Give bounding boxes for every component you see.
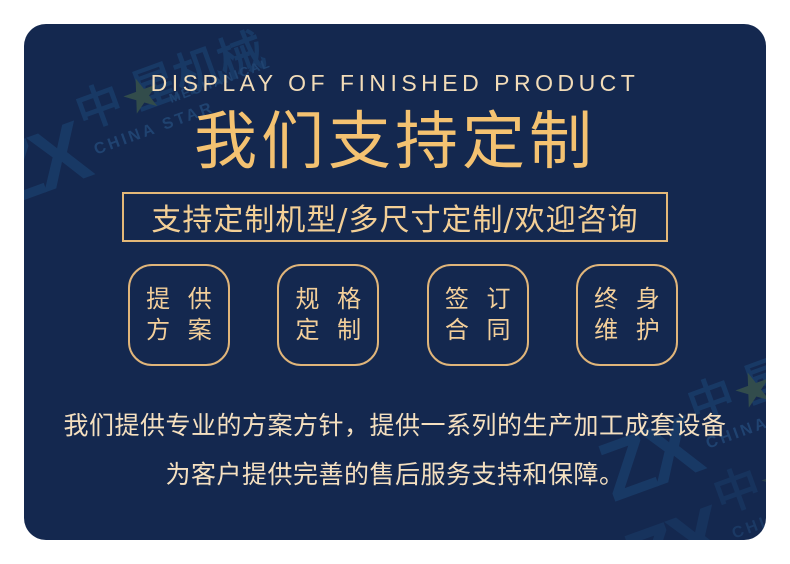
feature-box-1-line2: 方 案 — [141, 318, 217, 343]
page-title: 我们支持定制 — [24, 106, 766, 178]
subtitle-text: 支持定制机型/多尺寸定制/欢迎咨询 — [151, 195, 638, 239]
feature-box-4-line1: 终 身 — [589, 287, 665, 312]
feature-box-3-line1: 签 订 — [440, 287, 516, 312]
feature-box-2[interactable]: 规 格 定 制 — [277, 264, 379, 366]
description-line-1: 我们提供专业的方案方针，提供一系列的生产加工成套设备 — [24, 402, 766, 451]
feature-box-4-line2: 维 护 — [589, 318, 665, 343]
feature-box-1-line1: 提 供 — [141, 287, 217, 312]
subtitle-box: 支持定制机型/多尺寸定制/欢迎咨询 — [122, 192, 668, 242]
feature-box-3[interactable]: 签 订 合 同 — [427, 264, 529, 366]
feature-box-4[interactable]: 终 身 维 护 — [576, 264, 678, 366]
description-line-2: 为客户提供完善的售后服务支持和保障。 — [24, 451, 766, 500]
feature-box-3-line2: 合 同 — [440, 318, 516, 343]
description-paragraph: 我们提供专业的方案方针，提供一系列的生产加工成套设备 为客户提供完善的售后服务支… — [24, 402, 766, 500]
eyebrow-heading: DISPLAY OF FINISHED PRODUCT — [24, 70, 766, 97]
feature-box-1[interactable]: 提 供 方 案 — [128, 264, 230, 366]
feature-box-2-line2: 定 制 — [291, 318, 367, 343]
feature-box-2-line1: 规 格 — [291, 287, 367, 312]
feature-box-row: 提 供 方 案 规 格 定 制 签 订 合 同 终 身 维 护 — [128, 264, 678, 366]
promo-banner-card: ZX 中 星机械 ★ CHINA STAR MECHANICAL ZX 中 星机… — [24, 24, 766, 540]
banner-content: DISPLAY OF FINISHED PRODUCT 我们支持定制 支持定制机… — [24, 24, 766, 540]
